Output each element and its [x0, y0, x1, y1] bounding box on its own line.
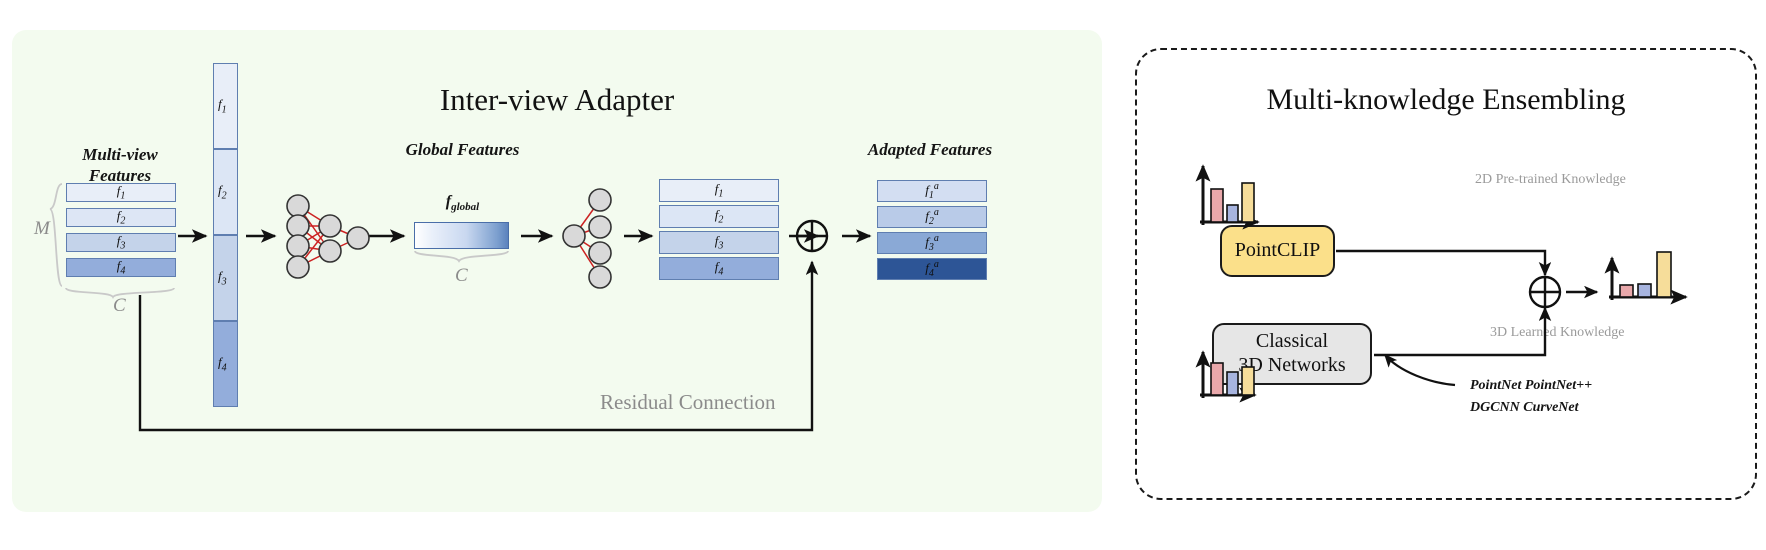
- feature-row-label: f1: [117, 183, 126, 202]
- feature-row: f4: [66, 258, 176, 277]
- figure-root: Inter-view Adapter Multi-view Features f…: [0, 0, 1766, 550]
- f-global-label: fglobal: [410, 192, 515, 215]
- feature-row: f2: [659, 205, 779, 228]
- feature-row: f2: [66, 208, 176, 227]
- global-feature-gradient-bar: [414, 222, 509, 249]
- network-names-line1: PointNet PointNet++: [1470, 375, 1592, 397]
- global-features-label: Global Features: [370, 140, 555, 161]
- feature-row-label: f3a: [925, 233, 939, 253]
- feature-row: f3: [659, 231, 779, 254]
- brace-label-c-left: C: [113, 295, 126, 317]
- network-names: PointNet PointNet++ DGCNN CurveNet: [1470, 375, 1592, 418]
- adapted-features-label: Adapted Features: [805, 140, 1055, 161]
- concat-segment-label: f1: [218, 97, 227, 116]
- feature-row: f2a: [877, 206, 987, 228]
- classical-label-line1: Classical: [1238, 330, 1345, 354]
- network-names-line2: DGCNN CurveNet: [1470, 397, 1592, 419]
- feature-row: f1: [66, 183, 176, 202]
- knowledge-3d-label: 3D Learned Knowledge: [1490, 325, 1625, 341]
- feature-row: f1a: [877, 180, 987, 202]
- right-panel-title: Multi-knowledge Ensembling: [1135, 83, 1757, 117]
- pointclip-node[interactable]: PointCLIP: [1220, 225, 1335, 277]
- feature-row-label: f1a: [925, 181, 939, 201]
- residual-connection-label: Residual Connection: [600, 390, 776, 415]
- feature-row-label: f3: [117, 233, 126, 252]
- concat-segment-label: f2: [218, 183, 227, 202]
- feature-row-label: f3: [715, 233, 724, 252]
- feature-row: f4a: [877, 258, 987, 280]
- adapted-feature-stack: f1af2af3af4a: [877, 180, 987, 284]
- feature-row: f1: [659, 179, 779, 202]
- feature-row-label: f4: [715, 259, 724, 278]
- classical-label-line2: 3D Networks: [1238, 354, 1345, 378]
- feature-row: f3a: [877, 232, 987, 254]
- brace-label-m: M: [34, 218, 50, 240]
- multiview-feature-stack: f1f2f3f4: [66, 183, 176, 283]
- feature-row-label: f2a: [925, 207, 939, 227]
- concat-segment: f3: [213, 235, 238, 321]
- classical-3d-networks-node[interactable]: Classical 3D Networks: [1212, 323, 1372, 385]
- multiview-features-label: Multi-view Features: [30, 145, 210, 186]
- feature-row-label: f1: [715, 181, 724, 200]
- concat-segment-label: f4: [218, 355, 227, 374]
- feature-row-label: f4a: [925, 259, 939, 279]
- feature-row-label: f4: [117, 258, 126, 277]
- page-title: Inter-view Adapter: [12, 82, 1102, 118]
- concat-segment-label: f3: [218, 269, 227, 288]
- feature-row-label: f2: [715, 207, 724, 226]
- concat-segment: f1: [213, 63, 238, 149]
- brace-label-c-global: C: [455, 265, 468, 287]
- concat-segment: f4: [213, 321, 238, 407]
- feature-row-label: f2: [117, 208, 126, 227]
- knowledge-2d-label: 2D Pre-trained Knowledge: [1475, 172, 1626, 188]
- concatenated-feature-bar: f1f2f3f4: [213, 63, 238, 407]
- feature-row: f4: [659, 257, 779, 280]
- feature-row: f3: [66, 233, 176, 252]
- expanded-feature-stack: f1f2f3f4: [659, 179, 779, 283]
- concat-segment: f2: [213, 149, 238, 235]
